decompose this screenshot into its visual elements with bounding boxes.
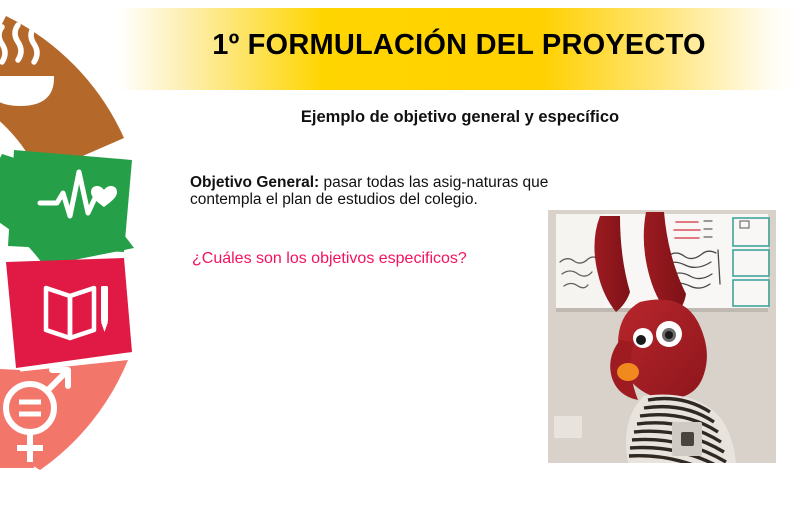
- arc-segment-health-fill: [8, 150, 132, 252]
- arc-segment-gender-equality: [0, 360, 128, 470]
- arc-segment-health: [0, 150, 134, 266]
- specific-objectives-question: ¿Cuáles son los objetivos especificos?: [192, 250, 572, 268]
- arc-segment-education: [6, 258, 132, 368]
- puppet-photo: [548, 210, 776, 463]
- subtitle: Ejemplo de objetivo general y específico: [150, 108, 770, 127]
- objective-general-label: Objetivo General:: [190, 174, 319, 191]
- objective-general-block: Objetivo General: pasar todas las asig-n…: [190, 174, 550, 208]
- page-title: 1º FORMULACIÓN DEL PROYECTO: [118, 8, 800, 90]
- puppet-nose: [617, 363, 639, 381]
